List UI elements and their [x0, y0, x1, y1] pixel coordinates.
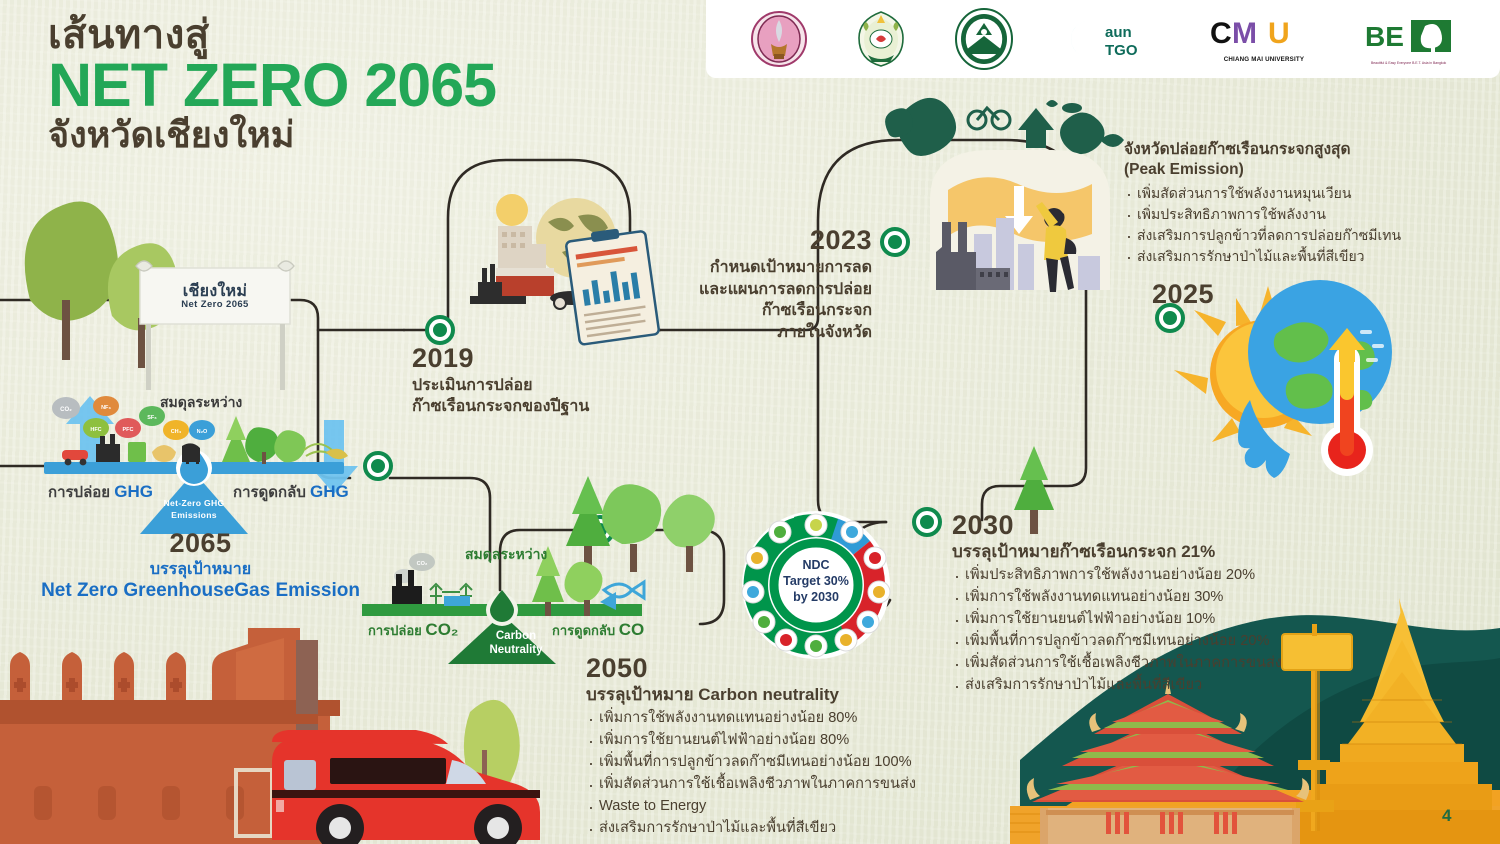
- list-item: เพิ่มสัดส่วนการใช้เชื้อเพลิงชีวภาพในภาคก…: [952, 653, 1372, 675]
- page-title: เส้นทางสู่ NET ZERO 2065 จังหวัดเชียงใหม…: [48, 14, 496, 155]
- net-zero-triangle-label: Net-Zero GHG Emissions: [152, 498, 236, 521]
- list-item: เพิ่มประสิทธิภาพการใช้พลังงาน: [1124, 204, 1496, 225]
- ministry-natural-resources-logo: [953, 8, 1015, 70]
- chiang-mai-sign-english-label: Net Zero 2065: [150, 299, 280, 310]
- milestone-2025-year: 2025: [1152, 281, 1214, 308]
- list-item: เพิ่มประสิทธิภาพการใช้พลังงานอย่างน้อย 2…: [952, 565, 1372, 587]
- svg-text:PFC: PFC: [123, 427, 134, 433]
- carbon-neutrality-triangle-label: Carbon Neutrality: [470, 629, 562, 658]
- page-number: 4: [1442, 806, 1451, 826]
- title-line-1: เส้นทางสู่: [48, 14, 496, 56]
- list-item: เพิ่มการใช้พลังงานทดแทนอย่างน้อย 30%: [952, 587, 1372, 609]
- milestone-2019-year: 2019: [412, 345, 672, 372]
- svg-text:N₂O: N₂O: [197, 429, 208, 435]
- cmu-logo: CMU CHIANG MAI UNIVERSITY: [1210, 15, 1318, 63]
- milestone-2050-heading: บรรลุเป้าหมาย Carbon neutrality: [586, 684, 1006, 706]
- milestone-2030-bullets: เพิ่มประสิทธิภาพการใช้พลังงานอย่างน้อย 2…: [952, 565, 1372, 696]
- milestone-2019: 2019 ประเมินการปล่อย ก๊าซเรือนกระจกของปี…: [412, 345, 672, 417]
- co-absorption-label-en: CO: [619, 620, 645, 639]
- milestone-2023-heading: กำหนดเป้าหมายการลด และแผนการลดการปล่อย ก…: [660, 257, 872, 343]
- ndc-line-3: by 2030: [770, 589, 862, 605]
- milestone-2065: 2065 บรรลุเป้าหมาย Net Zero GreenhouseGa…: [28, 530, 373, 603]
- list-item: เพิ่มการใช้ยานยนต์ไฟฟ้าอย่างน้อย 10%: [952, 609, 1372, 631]
- partner-logo-bar: aunTGO CMU CHIANG MAI UNIVERSITY BE Beau…: [706, 0, 1500, 78]
- ndc-line-2: Target 30%: [770, 573, 862, 589]
- svg-text:C: C: [1210, 17, 1232, 50]
- svg-text:U: U: [1268, 17, 1290, 50]
- ghg-absorption-label-en: GHG: [310, 482, 349, 501]
- ghg-emission-label-th: การปล่อย: [48, 484, 110, 501]
- svg-text:SF₆: SF₆: [147, 415, 157, 421]
- ghg-absorption-label-th: การดูดกลับ: [233, 484, 306, 501]
- svg-text:CO₂: CO₂: [417, 561, 428, 567]
- chiang-mai-province-seal-logo: [852, 9, 910, 69]
- list-item: เพิ่มการใช้พลังงานทดแทนอย่างน้อย 80%: [586, 708, 1006, 730]
- ndc-line-1: NDC: [770, 557, 862, 573]
- ndc-wheel-center-text: NDC Target 30% by 2030: [770, 557, 862, 605]
- svg-text:CH₄: CH₄: [171, 429, 182, 435]
- list-item: เพิ่มสัดส่วนการใช้เชื้อเพลิงชีวภาพในภาคก…: [586, 774, 1006, 796]
- milestone-2065-heading: บรรลุเป้าหมาย: [28, 559, 373, 580]
- svg-text:BE: BE: [1365, 21, 1404, 52]
- cmu-logo-subtitle: CHIANG MAI UNIVERSITY: [1224, 56, 1305, 63]
- emission-assessment-illustration: [470, 194, 659, 345]
- title-line-2: NET ZERO 2065: [48, 54, 496, 116]
- milestone-2019-heading: ประเมินการปล่อย ก๊าซเรือนกระจกของปีฐาน: [412, 375, 672, 417]
- svg-text:CO₂: CO₂: [60, 407, 72, 413]
- ghg-absorption-label: การดูดกลับ GHG: [233, 480, 349, 504]
- peak-emission-illustration: [885, 98, 1124, 292]
- milestone-2025-heading: จังหวัดปล่อยก๊าซเรือนกระจกสูงสุด (Peak E…: [1124, 140, 1496, 181]
- list-item: เพิ่มพื้นที่การปลูกข้าวลดก๊าซมีเทนอย่างน…: [586, 752, 1006, 774]
- bed-logo: BE Beautiful & Easy Everyone B.E.T. Asia…: [1361, 12, 1457, 65]
- co2-emission-label-en: CO₂: [425, 620, 458, 639]
- royal-emblem-logo: [749, 10, 809, 68]
- infographic-canvas: CO₂ HFC NF₃ PFC SF₆ CH₄ N₂O: [0, 0, 1500, 844]
- milestone-2030-heading: บรรลุเป้าหมายก๊าซเรือนกระจก 21%: [952, 541, 1372, 563]
- ghg-emission-label: การปล่อย GHG: [48, 480, 153, 504]
- co2-balance-top-label: สมดุลระหว่าง: [465, 544, 547, 566]
- bed-logo-subtitle: Beautiful & Easy Everyone B.E.T. Asia in…: [1371, 61, 1446, 65]
- ghg-balance-top-label: สมดุลระหว่าง: [160, 392, 242, 414]
- list-item: ส่งเสริมการรักษาป่าไม้และพื้นที่สีเขียว: [1124, 246, 1496, 267]
- svg-text:M: M: [1232, 17, 1257, 50]
- list-item: เพิ่มสัดส่วนการใช้พลังงานหมุนเวียน: [1124, 183, 1496, 204]
- list-item: ส่งเสริมการรักษาป่าไม้และพื้นที่สีเขียว: [952, 675, 1372, 697]
- list-item: Waste to Energy: [586, 796, 1006, 818]
- milestone-2065-year: 2065: [28, 530, 373, 557]
- list-item: เพิ่มพื้นที่การปลูกข้าวลดก๊าซมีเทนอย่างน…: [952, 631, 1372, 653]
- milestone-2050-year: 2050: [586, 655, 1006, 682]
- milestone-2030-year: 2030: [952, 512, 1372, 539]
- svg-text:NF₃: NF₃: [101, 405, 111, 411]
- co2-emission-label: การปล่อย CO₂: [368, 620, 458, 641]
- list-item: เพิ่มการใช้ยานยนต์ไฟฟ้าอย่างน้อย 80%: [586, 730, 1006, 752]
- svg-text:TGO: TGO: [1105, 42, 1138, 59]
- milestone-2025: จังหวัดปล่อยก๊าซเรือนกระจกสูงสุด (Peak E…: [1124, 140, 1496, 267]
- svg-text:HFC: HFC: [90, 427, 101, 433]
- milestone-2065-subheading: Net Zero GreenhouseGas Emission: [28, 580, 373, 603]
- milestone-2023-year: 2023: [660, 227, 872, 254]
- ghg-emission-label-en: GHG: [114, 482, 153, 501]
- svg-text:aun: aun: [1105, 24, 1132, 41]
- co2-emission-label-th: การปล่อย: [368, 623, 422, 638]
- milestone-2050-bullets: เพิ่มการใช้พลังงานทดแทนอย่างน้อย 80% เพิ…: [586, 708, 1006, 839]
- co-absorption-label: การดูดกลับ CO: [552, 620, 644, 641]
- tgo-logo: aunTGO: [1057, 15, 1167, 63]
- milestone-2050: 2050 บรรลุเป้าหมาย Carbon neutrality เพิ…: [586, 655, 1006, 840]
- global-warming-illustration: [1174, 280, 1392, 478]
- milestone-2023: 2023 กำหนดเป้าหมายการลด และแผนการลดการปล…: [660, 227, 872, 343]
- milestone-2025-bullets: เพิ่มสัดส่วนการใช้พลังงานหมุนเวียน เพิ่ม…: [1124, 183, 1496, 267]
- title-line-3: จังหวัดเชียงใหม่: [48, 115, 496, 155]
- list-item: ส่งเสริมการปลูกข้าวที่ลดการปล่อยก๊าซมีเท…: [1124, 225, 1496, 246]
- list-item: ส่งเสริมการรักษาป่าไม้และพื้นที่สีเขียว: [586, 818, 1006, 840]
- milestone-2030: 2030 บรรลุเป้าหมายก๊าซเรือนกระจก 21% เพิ…: [952, 512, 1372, 697]
